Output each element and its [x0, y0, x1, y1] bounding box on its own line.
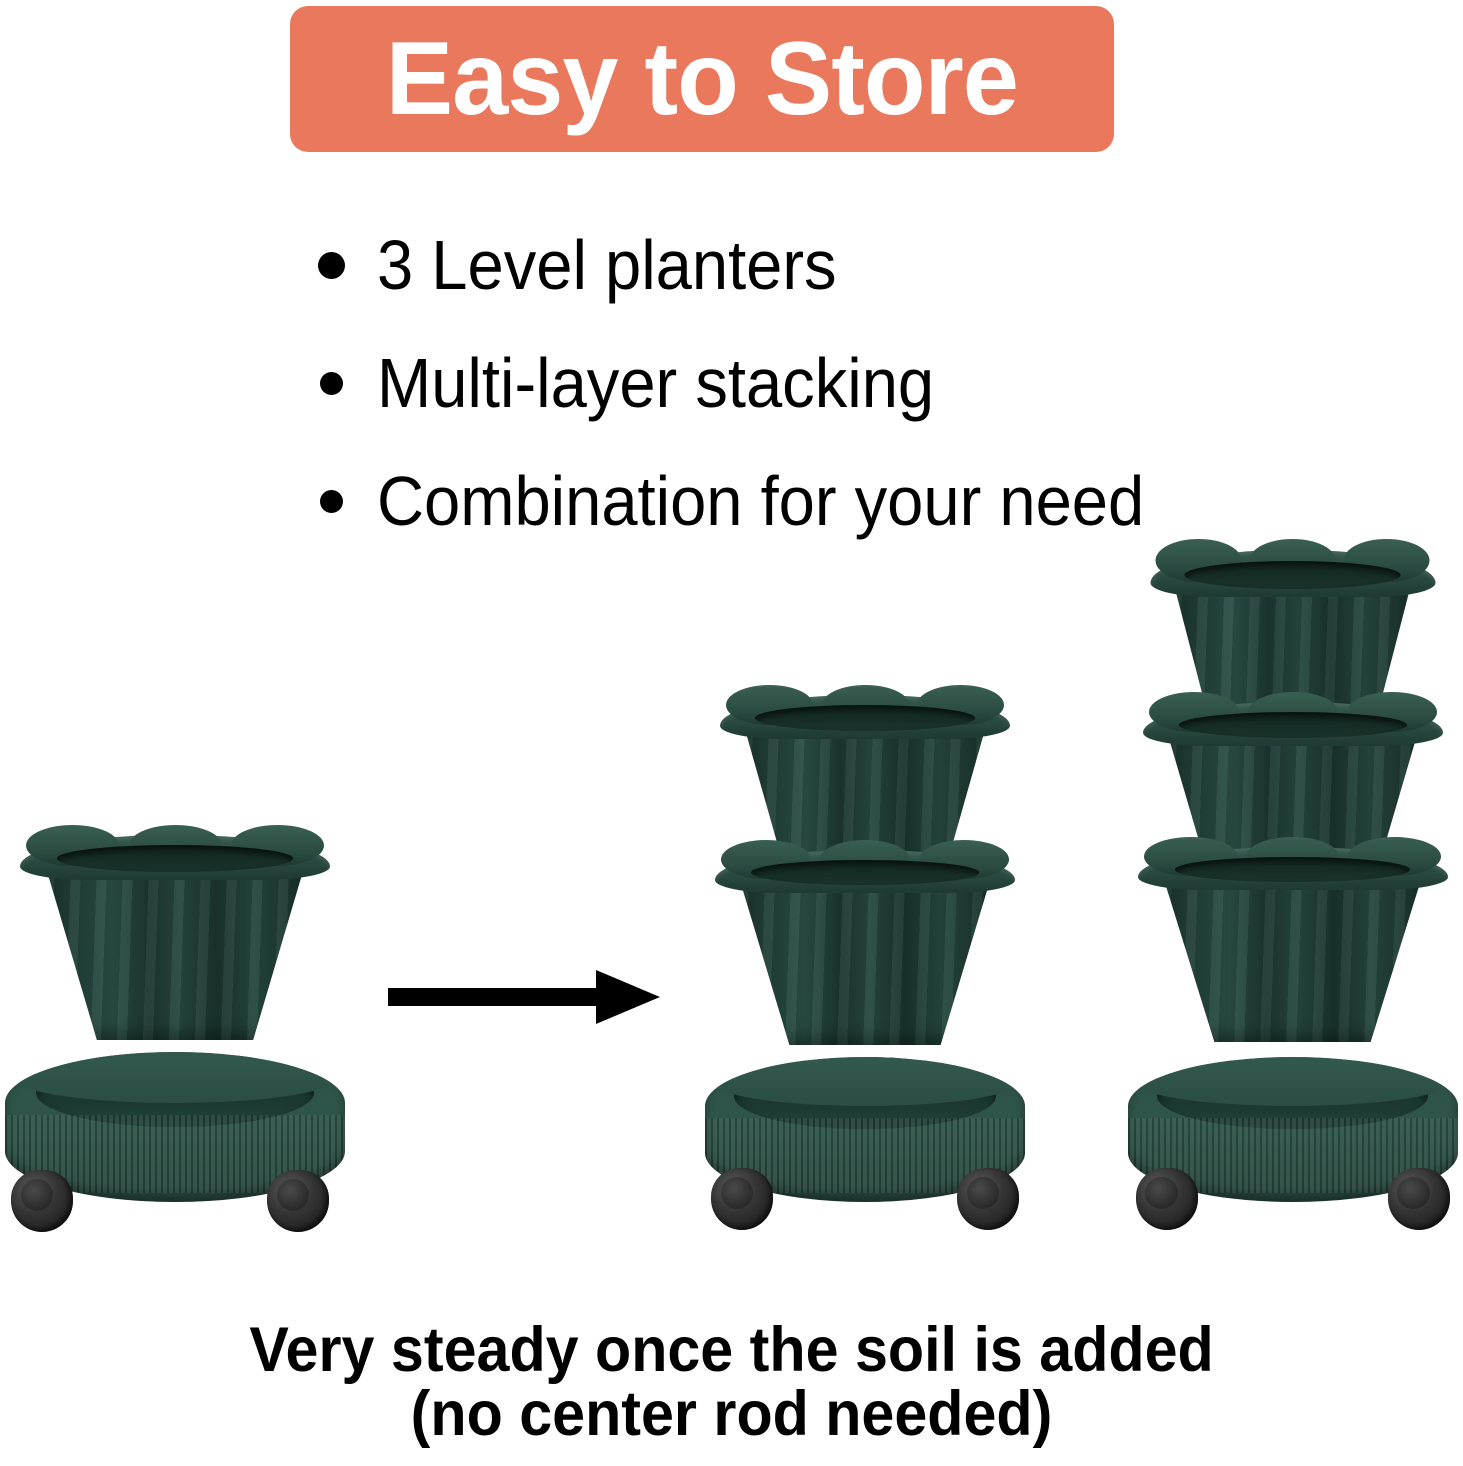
caption-line-2: (no center rod needed)	[44, 1382, 1419, 1446]
bullet-point-icon	[320, 372, 343, 395]
bullet-point-icon	[318, 252, 345, 279]
page-title: Easy to Store	[386, 27, 1018, 131]
planter-opening	[1175, 857, 1411, 882]
planter-opening	[1184, 561, 1401, 589]
list-item: Multi-layer stacking	[318, 324, 1418, 442]
planter-opening	[751, 860, 979, 885]
wheeled-caddy	[705, 1057, 1025, 1202]
planter-flutes	[739, 877, 991, 1045]
planter-tier	[715, 850, 1015, 1045]
caster-wheel-icon	[1136, 1168, 1198, 1230]
planter-group-three-tier	[1125, 620, 1460, 1220]
caddy-lip	[1134, 1057, 1451, 1106]
caster-wheel-icon	[957, 1168, 1019, 1230]
feature-label: Multi-layer stacking	[377, 348, 934, 418]
product-showcase	[0, 600, 1463, 1220]
caster-wheel-icon	[1388, 1168, 1450, 1230]
header-banner: Easy to Store	[290, 6, 1114, 152]
planter-group-one-tier	[0, 620, 350, 1220]
caster-wheel-icon	[711, 1168, 773, 1230]
caster-wheel-icon	[267, 1170, 329, 1232]
planter-tier	[20, 835, 330, 1040]
caddy-lip	[12, 1052, 338, 1103]
feature-label: 3 Level planters	[377, 230, 837, 300]
list-item: 3 Level planters	[318, 206, 1418, 324]
planter-tier	[1138, 847, 1448, 1042]
planter-flutes	[45, 864, 305, 1040]
feature-label: Combination for your need	[377, 466, 1144, 536]
planter-group-two-tier	[700, 620, 1030, 1220]
feature-list: 3 Level planters Multi-layer stacking Co…	[318, 206, 1418, 560]
planter-opening	[1179, 712, 1407, 738]
wheeled-caddy	[5, 1052, 345, 1202]
caddy-lip	[711, 1057, 1018, 1106]
caster-wheel-icon	[11, 1170, 73, 1232]
bullet-point-icon	[320, 490, 343, 513]
list-item: Combination for your need	[318, 442, 1418, 560]
bottom-caption: Very steady once the soil is added (no c…	[0, 1318, 1463, 1447]
right-arrow-icon	[388, 966, 660, 1028]
planter-flutes	[1162, 874, 1422, 1042]
planter-opening	[57, 845, 293, 872]
caption-line-1: Very steady once the soil is added	[44, 1318, 1419, 1382]
wheeled-caddy	[1128, 1057, 1458, 1202]
planter-opening	[755, 705, 975, 731]
